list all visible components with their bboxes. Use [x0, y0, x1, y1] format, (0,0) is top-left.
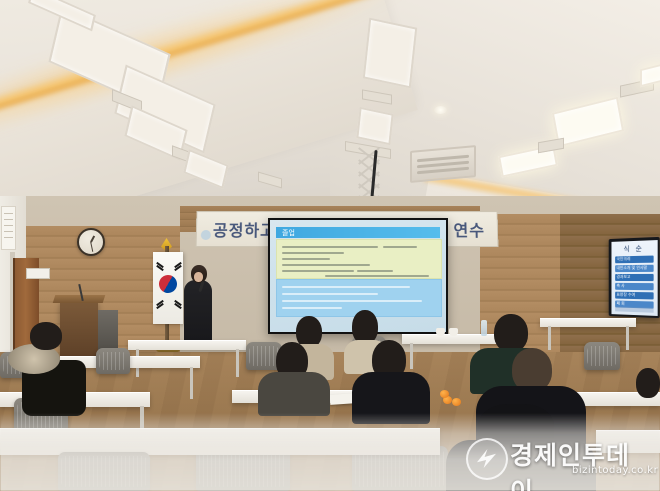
watermark: 경제인투데이 bizintoday.co.kr: [466, 432, 652, 484]
table-leg: [190, 367, 193, 399]
lectern: [60, 300, 98, 356]
watermark-url: bizintoday.co.kr: [572, 465, 658, 476]
chair: [584, 342, 620, 370]
wall-display-footer: [615, 306, 653, 312]
wall-display-heading: 식 순: [611, 243, 657, 254]
av-equipment-rack: [98, 310, 118, 352]
photo-canvas: 공정하고 학과 연수 졸업: [0, 0, 660, 491]
ceiling-air-conditioner: [410, 145, 476, 183]
water-bottle: [481, 320, 487, 336]
slide-content-box: [276, 239, 442, 279]
ceiling-spot-light: [434, 106, 447, 114]
orange-fruit: [452, 398, 461, 406]
table-leg: [410, 343, 413, 369]
wall-display-item: 표창장 수여: [615, 291, 653, 299]
wall-display-item: 경과보고: [615, 273, 653, 280]
wall-clock: [77, 228, 105, 256]
notice-board: [1, 206, 16, 250]
wall-display-item: 축 사: [615, 282, 653, 289]
table-leg: [626, 326, 629, 350]
door-sign-plate: [26, 268, 50, 279]
table-leg: [236, 349, 239, 377]
wall-display-item: 내빈소개 및 인사말: [615, 264, 653, 271]
korean-flag: [153, 252, 183, 324]
table-row: [128, 340, 246, 350]
presentation-slide: 졸업: [276, 227, 440, 323]
wall-display-item: 국민의례: [615, 255, 653, 263]
table-leg: [548, 326, 551, 350]
orange-fruit: [440, 390, 449, 398]
ceiling-light-panel: [363, 18, 418, 89]
watermark-brand: 경제인투데이: [510, 436, 652, 491]
taeguk-symbol: [156, 272, 181, 297]
wall-display-frame: 식 순 국민의례 내빈소개 및 인사말 경과보고 축 사 표창장 수여 폐 회: [609, 237, 660, 318]
watermark-logo-icon: [466, 438, 508, 480]
wall-display-screen: 식 순 국민의례 내빈소개 및 인사말 경과보고 축 사 표창장 수여 폐 회: [611, 240, 657, 316]
paper-cup: [436, 328, 445, 336]
table-row: [540, 318, 636, 327]
slide-title-text: 졸업: [282, 228, 295, 238]
slide-title-bar: 졸업: [276, 227, 440, 238]
banner-text-left: 공정하고: [213, 217, 276, 241]
chair: [96, 348, 130, 374]
paper-cup: [449, 328, 458, 336]
